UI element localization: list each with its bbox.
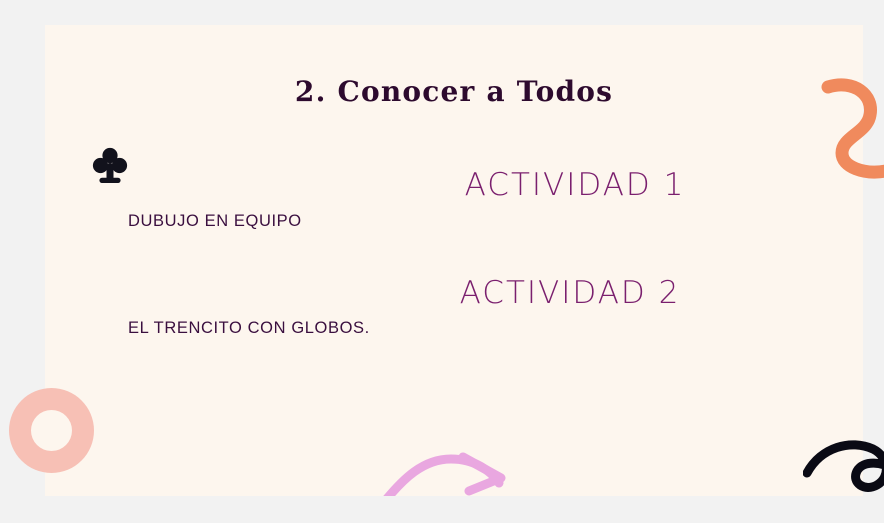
activity-1-heading: ACTIVIDAD 1 bbox=[365, 167, 785, 203]
activity-1-subtitle: DUBUJO EN EQUIPO bbox=[128, 212, 302, 231]
donut-hole bbox=[31, 410, 72, 451]
scribble-bottom-right-icon bbox=[803, 423, 884, 518]
slide-canvas: 2. Conocer a Todos ACTIVIDAD 1 DUBUJO EN… bbox=[45, 25, 863, 496]
donut-circle-icon bbox=[9, 388, 94, 473]
squiggle-top-right-icon bbox=[820, 75, 884, 190]
activity-2-subtitle: EL TRENCITO CON GLOBOS. bbox=[128, 319, 370, 338]
activity-2-heading: ACTIVIDAD 2 bbox=[360, 275, 780, 311]
page-title: 2. Conocer a Todos bbox=[45, 75, 863, 108]
clover-icon bbox=[90, 145, 130, 185]
wave-arrow-icon bbox=[323, 445, 513, 496]
slide-content-area: 2. Conocer a Todos ACTIVIDAD 1 DUBUJO EN… bbox=[45, 25, 863, 496]
